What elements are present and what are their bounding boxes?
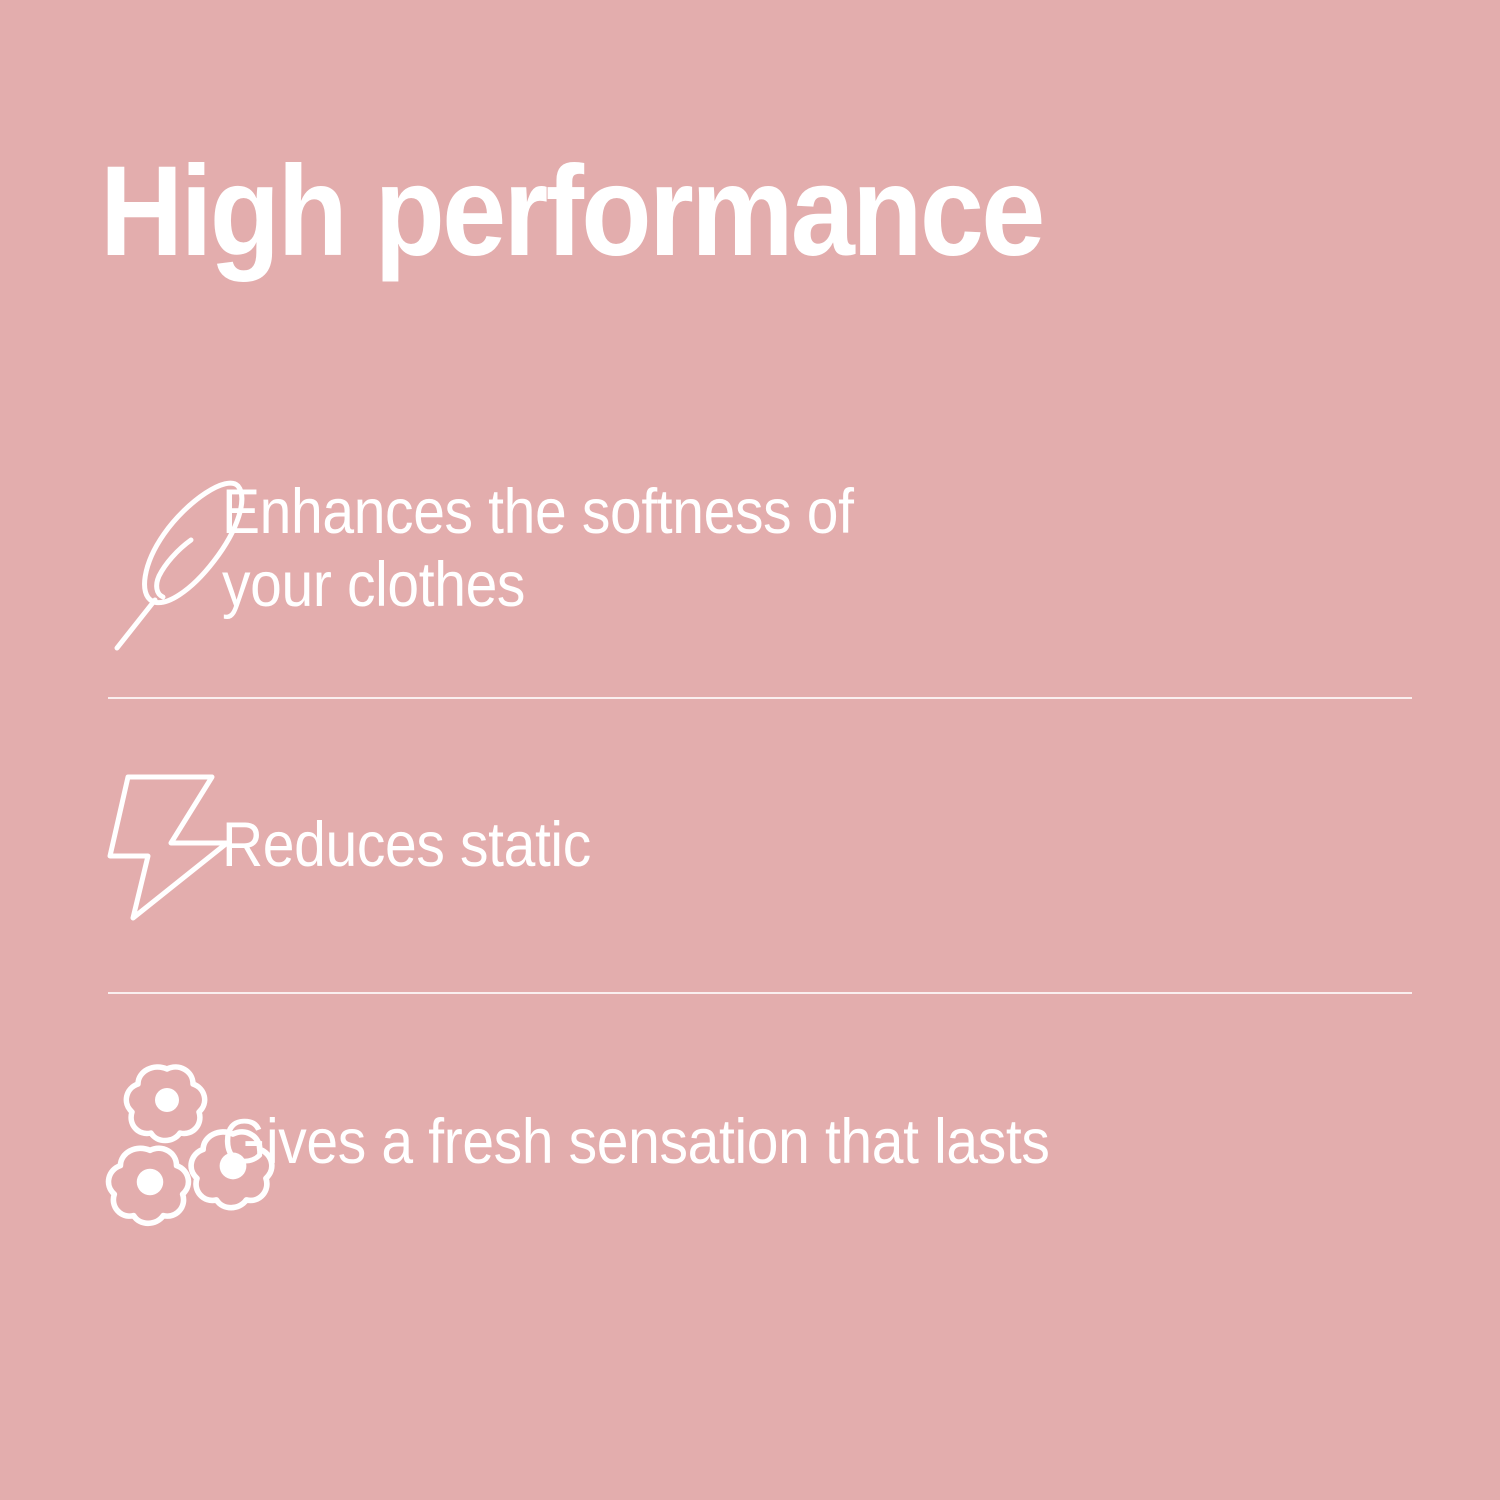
feature-icon-slot — [0, 993, 222, 1293]
feature-row-freshness: Gives a fresh sensation that lasts — [0, 993, 1500, 1293]
feature-icon-slot — [0, 698, 222, 993]
product-feature-panel: High performance Enhances the softness o… — [0, 0, 1500, 1500]
feature-list: Enhances the softness of your clothes Re… — [0, 400, 1500, 1293]
flower-petal-group-top — [126, 1067, 204, 1141]
lightning-bolt-icon — [105, 770, 233, 922]
feature-text-softness: Enhances the softness of your clothes — [222, 476, 854, 622]
feature-row-static: Reduces static — [0, 698, 1500, 993]
feature-icon-slot — [0, 400, 222, 698]
feature-row-softness: Enhances the softness of your clothes — [0, 400, 1500, 698]
divider-1 — [108, 697, 1412, 699]
page-title: High performance — [100, 148, 1288, 276]
feature-text-freshness: Gives a fresh sensation that lasts — [222, 1106, 1049, 1179]
divider-2 — [108, 992, 1412, 994]
flower-petal-group-bottom-left — [109, 1148, 189, 1223]
feature-text-static: Reduces static — [222, 809, 591, 882]
